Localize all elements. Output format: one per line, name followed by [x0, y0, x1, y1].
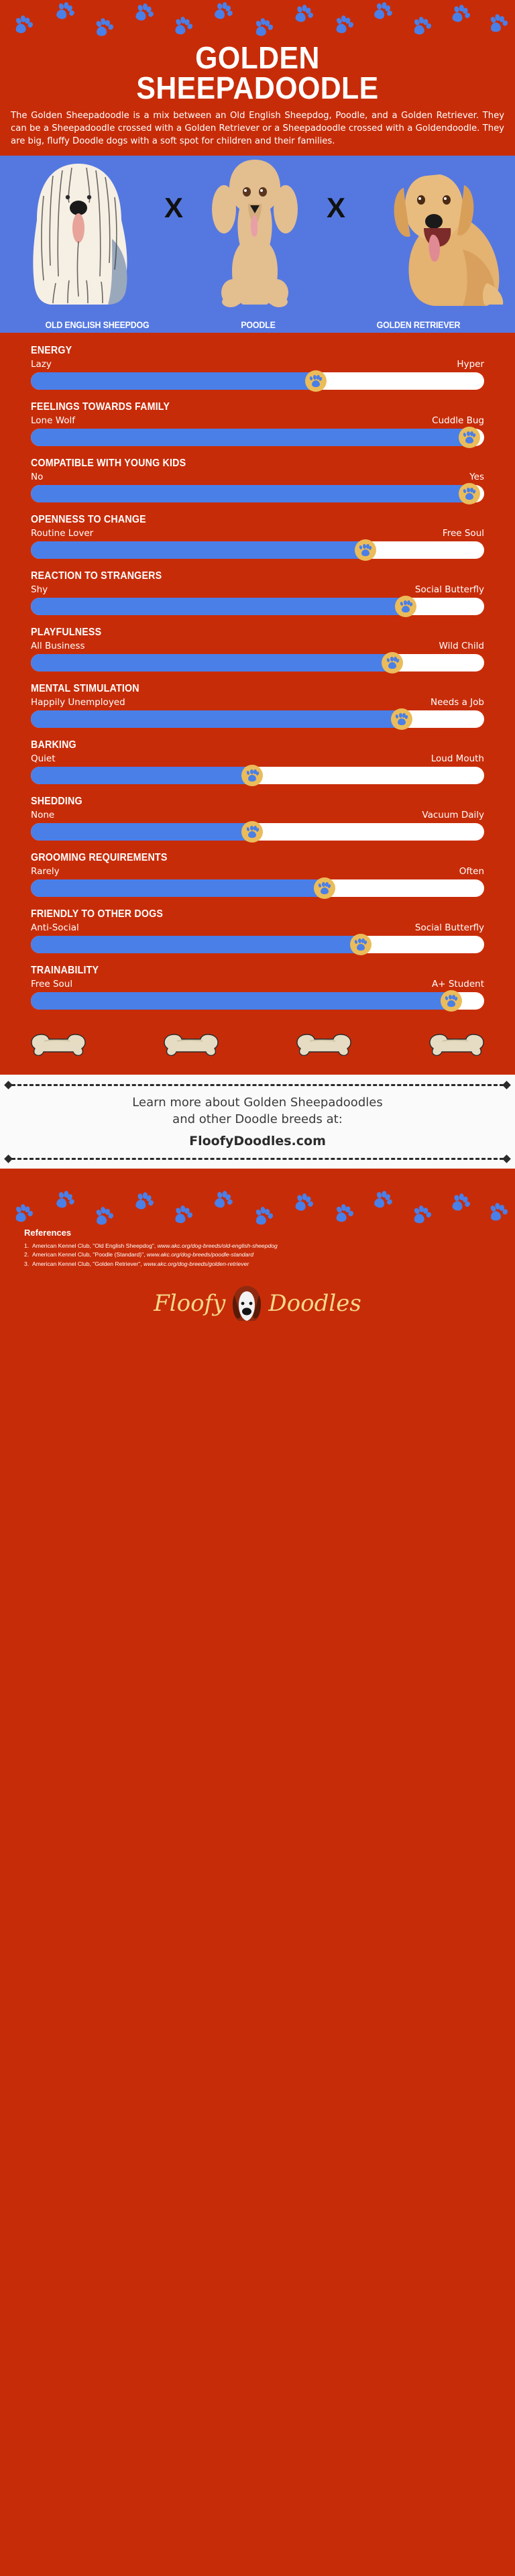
trait-left-label: Lazy	[31, 359, 52, 370]
trait-slider-track[interactable]	[31, 429, 484, 446]
paw-print-icon	[450, 3, 472, 25]
paw-print-icon	[386, 656, 399, 669]
paw-print-icon	[172, 15, 194, 37]
reference-number: 3.	[24, 1260, 32, 1268]
floofy-doodles-logo[interactable]: Floofy Doodles	[0, 1269, 515, 1322]
trait-row: GROOMING REQUIREMENTSRarelyOften	[0, 852, 515, 897]
trait-scale-labels: LazyHyper	[31, 359, 484, 370]
paw-print-icon	[245, 769, 259, 782]
trait-row: REACTION TO STRANGERSShySocial Butterfly	[0, 570, 515, 615]
trait-scale-labels: RarelyOften	[31, 866, 484, 877]
paw-print-icon	[463, 487, 476, 500]
reference-text: American Kennel Club, "Poodle (Standard)…	[32, 1251, 147, 1258]
paw-print-icon	[293, 1192, 314, 1214]
header-block: GOLDEN SHEEPADOODLE	[0, 39, 515, 103]
trait-name: REACTION TO STRANGERS	[31, 570, 448, 582]
old-english-sheepdog-illustration	[4, 158, 153, 309]
trait-name: MENTAL STIMULATION	[31, 683, 448, 695]
cta-website-link[interactable]: FloofyDoodles.com	[0, 1134, 515, 1155]
trait-left-label: Rarely	[31, 866, 60, 877]
trait-slider-fill	[31, 992, 453, 1010]
trait-slider-track[interactable]	[31, 710, 484, 728]
reference-item: 3.American Kennel Club, "Golden Retrieve…	[24, 1260, 491, 1268]
trait-left-label: Happily Unemployed	[31, 697, 125, 708]
breed-label-row: OLD ENGLISH SHEEPDOG POODLE GOLDEN RETRI…	[0, 320, 515, 330]
paw-print-icon	[133, 1191, 156, 1213]
reference-item: 1.American Kennel Club, "Old English She…	[24, 1242, 491, 1250]
paw-print-icon	[371, 0, 394, 23]
trait-slider-paw-knob[interactable]	[441, 990, 462, 1012]
trait-left-label: Lone Wolf	[31, 415, 75, 426]
bone-icon	[295, 1030, 353, 1057]
reference-text: American Kennel Club, "Golden Retriever"…	[32, 1260, 144, 1267]
trait-name: FRIENDLY TO OTHER DOGS	[31, 908, 448, 920]
trait-right-label: Loud Mouth	[431, 753, 484, 764]
cta-message: Learn more about Golden Sheepadoodles an…	[0, 1088, 515, 1134]
trait-slider-paw-knob[interactable]	[355, 539, 376, 561]
trait-right-label: Vacuum Daily	[422, 810, 484, 820]
paw-print-icon	[252, 16, 275, 39]
trait-name: TRAINABILITY	[31, 965, 448, 977]
trait-name: OPENNESS TO CHANGE	[31, 514, 448, 526]
trait-right-label: Cuddle Bug	[432, 415, 484, 426]
reference-body: American Kennel Club, "Poodle (Standard)…	[32, 1250, 253, 1258]
reference-number: 2.	[24, 1250, 32, 1258]
paw-print-icon	[354, 938, 367, 951]
reference-body: American Kennel Club, "Golden Retriever"…	[32, 1260, 249, 1268]
diamond-icon	[502, 1155, 511, 1163]
paw-print-icon	[371, 1189, 394, 1212]
paw-print-icon	[93, 1205, 116, 1228]
paw-print-icon	[333, 14, 355, 36]
paw-print-icon	[54, 1189, 76, 1212]
trait-slider-paw-knob[interactable]	[350, 934, 371, 955]
bone-icon	[162, 1030, 220, 1057]
references-block: References 1.American Kennel Club, "Old …	[0, 1228, 515, 1268]
paw-print-icon	[463, 431, 476, 444]
paw-print-icon	[487, 12, 510, 35]
trait-slider-paw-knob[interactable]	[305, 370, 327, 392]
trait-slider-fill	[31, 936, 361, 953]
paw-print-icon	[93, 16, 116, 39]
trait-left-label: Anti-Social	[31, 922, 79, 933]
trait-list: ENERGYLazyHyperFEELINGS TOWARDS FAMILYLo…	[0, 333, 515, 1010]
trait-row: SHEDDINGNoneVacuum Daily	[0, 796, 515, 841]
trait-right-label: Yes	[469, 472, 484, 482]
trait-name: BARKING	[31, 739, 448, 751]
paw-print-icon	[13, 14, 35, 36]
poodle-illustration	[194, 157, 315, 309]
trait-left-label: Shy	[31, 584, 48, 595]
trait-row: FRIENDLY TO OTHER DOGSAnti-SocialSocial …	[0, 908, 515, 953]
trait-slider-paw-knob[interactable]	[459, 427, 480, 448]
top-paw-print-decoration	[0, 0, 515, 39]
cta-line-2: and other Doodle breeds at:	[13, 1112, 502, 1128]
trait-scale-labels: NoYes	[31, 472, 484, 482]
trait-scale-labels: Routine LoverFree Soul	[31, 528, 484, 539]
trait-name: SHEDDING	[31, 796, 448, 808]
trait-scale-labels: Lone WolfCuddle Bug	[31, 415, 484, 426]
trait-scale-labels: ShySocial Butterfly	[31, 584, 484, 595]
trait-slider-fill	[31, 372, 317, 390]
paw-print-icon	[212, 1189, 235, 1212]
trait-row: BARKINGQuietLoud Mouth	[0, 739, 515, 784]
trait-name: ENERGY	[31, 345, 448, 357]
paw-print-icon	[410, 15, 433, 37]
paw-print-icon	[395, 712, 408, 726]
trait-name: GROOMING REQUIREMENTS	[31, 852, 448, 864]
page-title: GOLDEN SHEEPADOODLE	[27, 43, 488, 103]
trait-slider-fill	[31, 654, 394, 672]
trait-scale-labels: QuietLoud Mouth	[31, 753, 484, 764]
references-list: 1.American Kennel Club, "Old English She…	[24, 1242, 491, 1268]
cta-panel: Learn more about Golden Sheepadoodles an…	[0, 1075, 515, 1169]
doodle-dog-head-logo-icon	[229, 1285, 264, 1322]
paw-print-icon	[212, 0, 235, 23]
paw-print-icon	[252, 1205, 275, 1228]
parent-breeds-panel: X	[0, 156, 515, 333]
trait-slider-paw-knob[interactable]	[459, 483, 480, 504]
paw-print-icon	[293, 3, 314, 25]
trait-slider-fill	[31, 767, 253, 784]
trait-slider-fill	[31, 429, 471, 446]
trait-scale-labels: NoneVacuum Daily	[31, 810, 484, 820]
logo-word-floofy: Floofy	[154, 1292, 225, 1315]
trait-slider-track[interactable]	[31, 654, 484, 672]
reference-text: American Kennel Club, "Old English Sheep…	[32, 1242, 158, 1249]
cta-bottom-divider	[0, 1155, 515, 1162]
intro-paragraph: The Golden Sheepadoodle is a mix between…	[0, 103, 515, 148]
trait-slider-fill	[31, 485, 471, 502]
paw-print-icon	[133, 2, 156, 24]
reference-body: American Kennel Club, "Old English Sheep…	[32, 1242, 278, 1250]
paw-print-icon	[450, 1192, 472, 1214]
trait-row: ENERGYLazyHyper	[0, 345, 515, 390]
bottom-paw-print-decoration	[0, 1189, 515, 1228]
trait-scale-labels: Happily UnemployedNeeds a Job	[31, 697, 484, 708]
trait-slider-fill	[31, 823, 253, 841]
trait-slider-paw-knob[interactable]	[314, 877, 335, 899]
cross-symbol-2: X	[315, 156, 357, 309]
paw-print-icon	[487, 1201, 510, 1224]
trait-left-label: Quiet	[31, 753, 56, 764]
trait-scale-labels: Anti-SocialSocial Butterfly	[31, 922, 484, 933]
trait-slider-fill	[31, 879, 325, 897]
infographic-root: GOLDEN SHEEPADOODLE The Golden Sheepadoo…	[0, 0, 515, 2576]
breed-label-old-english-sheepdog: OLD ENGLISH SHEEPDOG	[8, 320, 187, 330]
paw-print-icon	[172, 1204, 194, 1226]
reference-number: 1.	[24, 1242, 32, 1250]
breed-label-poodle: POODLE	[200, 320, 317, 330]
paw-print-icon	[54, 0, 76, 23]
paw-print-icon	[318, 881, 331, 895]
trait-left-label: Free Soul	[31, 979, 72, 989]
reference-url[interactable]: www.akc.org/dog-breeds/golden-retriever	[144, 1260, 249, 1267]
trait-slider-track[interactable]	[31, 879, 484, 897]
trait-slider-track[interactable]	[31, 936, 484, 953]
trait-scale-labels: All BusinessWild Child	[31, 641, 484, 651]
trait-row: OPENNESS TO CHANGERoutine LoverFree Soul	[0, 514, 515, 559]
paw-print-icon	[309, 374, 323, 388]
cross-symbol-1: X	[153, 156, 194, 309]
bone-icon	[30, 1030, 87, 1057]
trait-slider-paw-knob[interactable]	[382, 652, 403, 674]
trait-left-label: No	[31, 472, 43, 482]
diamond-icon	[4, 1155, 13, 1163]
trait-slider-paw-knob[interactable]	[241, 765, 263, 786]
trait-right-label: Hyper	[457, 359, 484, 370]
cta-line-1: Learn more about Golden Sheepadoodles	[13, 1095, 502, 1112]
trait-slider-fill	[31, 541, 366, 559]
cross-symbol-2-label: X	[327, 194, 345, 222]
trait-right-label: Social Butterfly	[415, 922, 484, 933]
trait-row: COMPATIBLE WITH YOUNG KIDSNoYes	[0, 458, 515, 502]
parent-breeds-row: X	[0, 156, 515, 309]
trait-row: MENTAL STIMULATIONHappily UnemployedNeed…	[0, 683, 515, 728]
trait-right-label: A+ Student	[432, 979, 484, 989]
trait-row: TRAINABILITYFree SoulA+ Student	[0, 965, 515, 1010]
trait-right-label: Social Butterfly	[415, 584, 484, 595]
logo-word-doodles: Doodles	[268, 1292, 361, 1315]
trait-slider-paw-knob[interactable]	[395, 596, 416, 617]
trait-scale-labels: Free SoulA+ Student	[31, 979, 484, 989]
trait-slider-track[interactable]	[31, 541, 484, 559]
trait-name: FEELINGS TOWARDS FAMILY	[31, 401, 448, 413]
paw-print-icon	[445, 994, 458, 1008]
trait-slider-track[interactable]	[31, 992, 484, 1010]
trait-slider-track[interactable]	[31, 598, 484, 615]
trait-slider-paw-knob[interactable]	[391, 708, 412, 730]
references-title: References	[24, 1228, 491, 1238]
paw-print-icon	[13, 1203, 35, 1225]
trait-row: PLAYFULNESSAll BusinessWild Child	[0, 627, 515, 672]
trait-slider-track[interactable]	[31, 485, 484, 502]
trait-slider-track[interactable]	[31, 767, 484, 784]
paw-print-icon	[333, 1203, 355, 1225]
trait-left-label: Routine Lover	[31, 528, 93, 539]
reference-url[interactable]: www.akc.org/dog-breeds/poodle-standard	[147, 1251, 253, 1258]
cta-top-divider	[0, 1081, 515, 1088]
reference-url[interactable]: www.akc.org/dog-breeds/old-english-sheep…	[158, 1242, 278, 1249]
trait-slider-fill	[31, 710, 402, 728]
cross-symbol-1-label: X	[164, 194, 183, 222]
trait-left-label: All Business	[31, 641, 85, 651]
trait-right-label: Wild Child	[439, 641, 484, 651]
golden-retriever-illustration	[357, 156, 511, 309]
trait-slider-track[interactable]	[31, 823, 484, 841]
trait-left-label: None	[31, 810, 54, 820]
paw-print-icon	[245, 825, 259, 839]
trait-right-label: Free Soul	[443, 528, 484, 539]
reference-item: 2.American Kennel Club, "Poodle (Standar…	[24, 1250, 491, 1258]
bone-icon	[428, 1030, 485, 1057]
paw-print-icon	[399, 600, 412, 613]
trait-name: COMPATIBLE WITH YOUNG KIDS	[31, 458, 448, 470]
bone-divider	[0, 1021, 515, 1057]
trait-right-label: Needs a Job	[431, 697, 484, 708]
trait-slider-paw-knob[interactable]	[241, 821, 263, 843]
trait-name: PLAYFULNESS	[31, 627, 448, 639]
paw-print-icon	[410, 1203, 433, 1226]
trait-slider-track[interactable]	[31, 372, 484, 390]
title-line-2: SHEEPADOODLE	[27, 73, 488, 103]
trait-row: FEELINGS TOWARDS FAMILYLone WolfCuddle B…	[0, 401, 515, 446]
paw-print-icon	[359, 543, 372, 557]
trait-slider-fill	[31, 598, 407, 615]
breed-label-golden-retriever: GOLDEN RETRIEVER	[330, 320, 508, 330]
trait-right-label: Often	[459, 866, 484, 877]
